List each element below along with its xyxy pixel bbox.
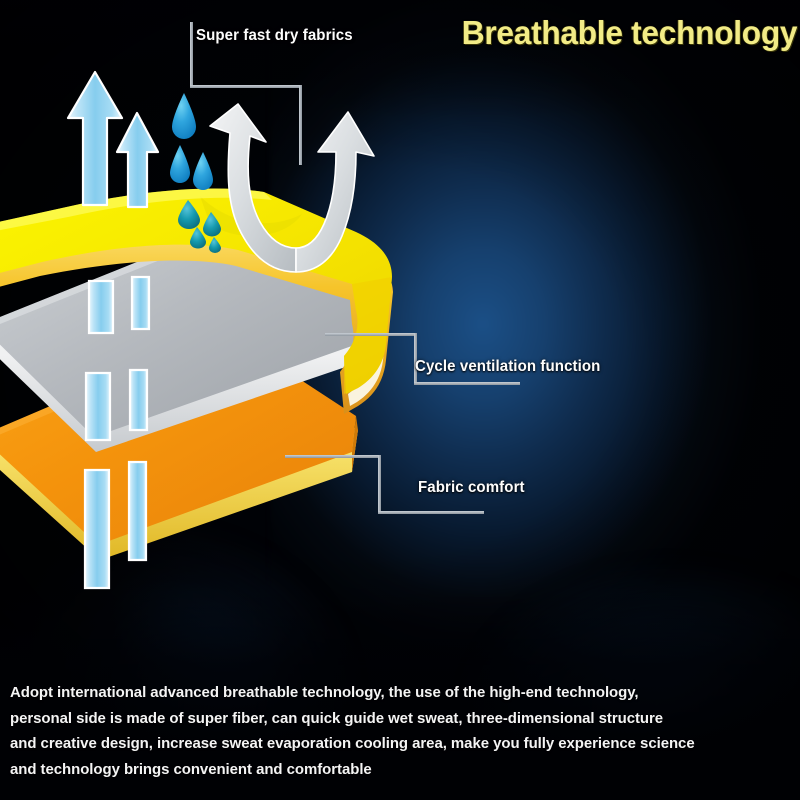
leader-dry-vertical-left: [190, 22, 193, 88]
description-line: and creative design, increase sweat evap…: [10, 731, 778, 757]
page-title: Breathable technology: [462, 14, 788, 52]
callout-label-cycle-ventilation-function: Cycle ventilation function: [415, 358, 600, 376]
callout-label-fabric-comfort: Fabric comfort: [418, 479, 525, 497]
leader-cycle-horizontal-top: [325, 333, 417, 336]
airborne-sweat-droplets: [170, 93, 213, 190]
leader-comfort-underline: [378, 511, 484, 514]
infographic-canvas: Super fast dry fabrics Cycle ventilation…: [0, 0, 800, 800]
leader-comfort-vertical: [378, 455, 381, 513]
leader-dry-horizontal: [190, 85, 302, 88]
description-line: personal side is made of super fiber, ca…: [10, 706, 778, 732]
description-paragraph: Adopt international advanced breathable …: [10, 680, 778, 782]
description-line: and technology brings convenient and com…: [10, 757, 778, 783]
leader-comfort-horizontal-top: [285, 455, 381, 458]
callout-label-super-fast-dry-fabrics: Super fast dry fabrics: [196, 27, 353, 45]
leader-dry-vertical-right: [299, 85, 302, 165]
description-line: Adopt international advanced breathable …: [10, 680, 778, 706]
leader-cycle-underline: [414, 382, 520, 385]
